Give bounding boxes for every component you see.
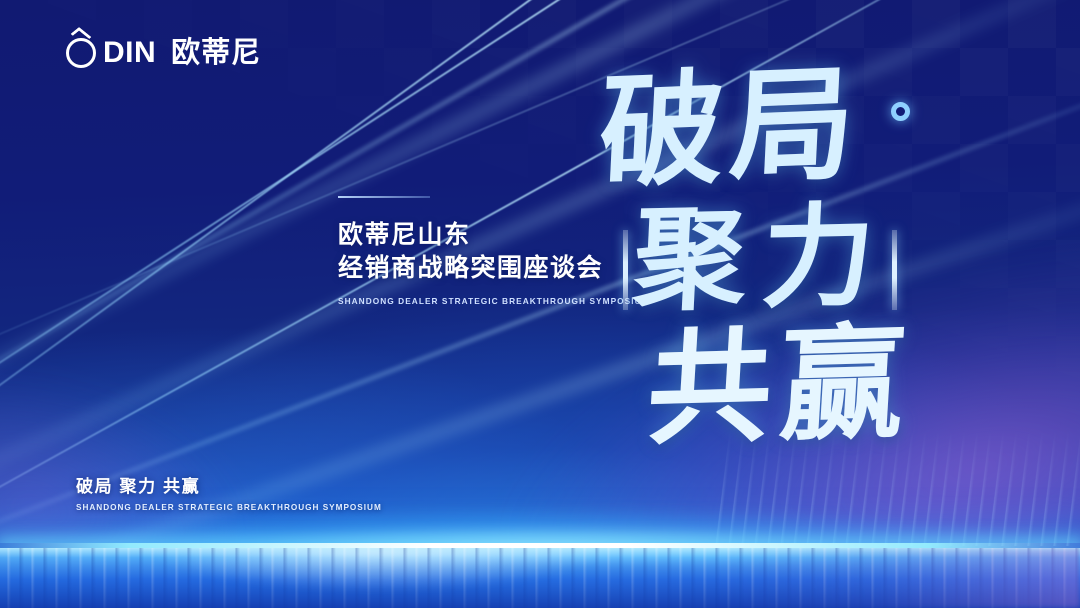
logo-chinese-name: 欧蒂尼 bbox=[171, 39, 261, 68]
poster-stage: DIN 欧蒂尼 欧蒂尼山东 经销商战略突围座谈会 SHANDONG DEALER… bbox=[0, 0, 1080, 608]
degree-ring-icon bbox=[891, 102, 910, 121]
title-divider-rule bbox=[338, 196, 430, 198]
light-pillars-right bbox=[706, 430, 1080, 546]
footer-chinese-slogan: 破局 聚力 共赢 bbox=[76, 472, 382, 497]
hero-calligraphy: 破局 聚力 共赢 bbox=[592, 58, 1012, 478]
hero-line-2: 聚力 bbox=[631, 205, 892, 313]
reflective-floor bbox=[0, 548, 1080, 608]
footer-slogan-block: 破局 聚力 共赢 SHANDONG DEALER STRATEGIC BREAK… bbox=[76, 472, 382, 512]
hero-line-1: 破局 bbox=[597, 67, 863, 191]
hero-bracket-right bbox=[892, 230, 897, 310]
event-title-line-1: 欧蒂尼山东 bbox=[338, 219, 650, 252]
event-title-block: 欧蒂尼山东 经销商战略突围座谈会 SHANDONG DEALER STRATEG… bbox=[338, 196, 650, 306]
o-circumflex-icon bbox=[66, 38, 96, 68]
event-title-line-2: 经销商战略突围座谈会 bbox=[338, 252, 650, 285]
hero-line-3: 共赢 bbox=[644, 326, 915, 447]
logo-wordmark: DIN bbox=[103, 38, 156, 68]
event-english-subtitle: SHANDONG DEALER STRATEGIC BREAKTHROUGH S… bbox=[338, 296, 650, 306]
floor-purple-tint bbox=[713, 548, 1080, 608]
brand-logo: DIN 欧蒂尼 bbox=[66, 38, 261, 68]
footer-english-slogan: SHANDONG DEALER STRATEGIC BREAKTHROUGH S… bbox=[76, 503, 382, 512]
